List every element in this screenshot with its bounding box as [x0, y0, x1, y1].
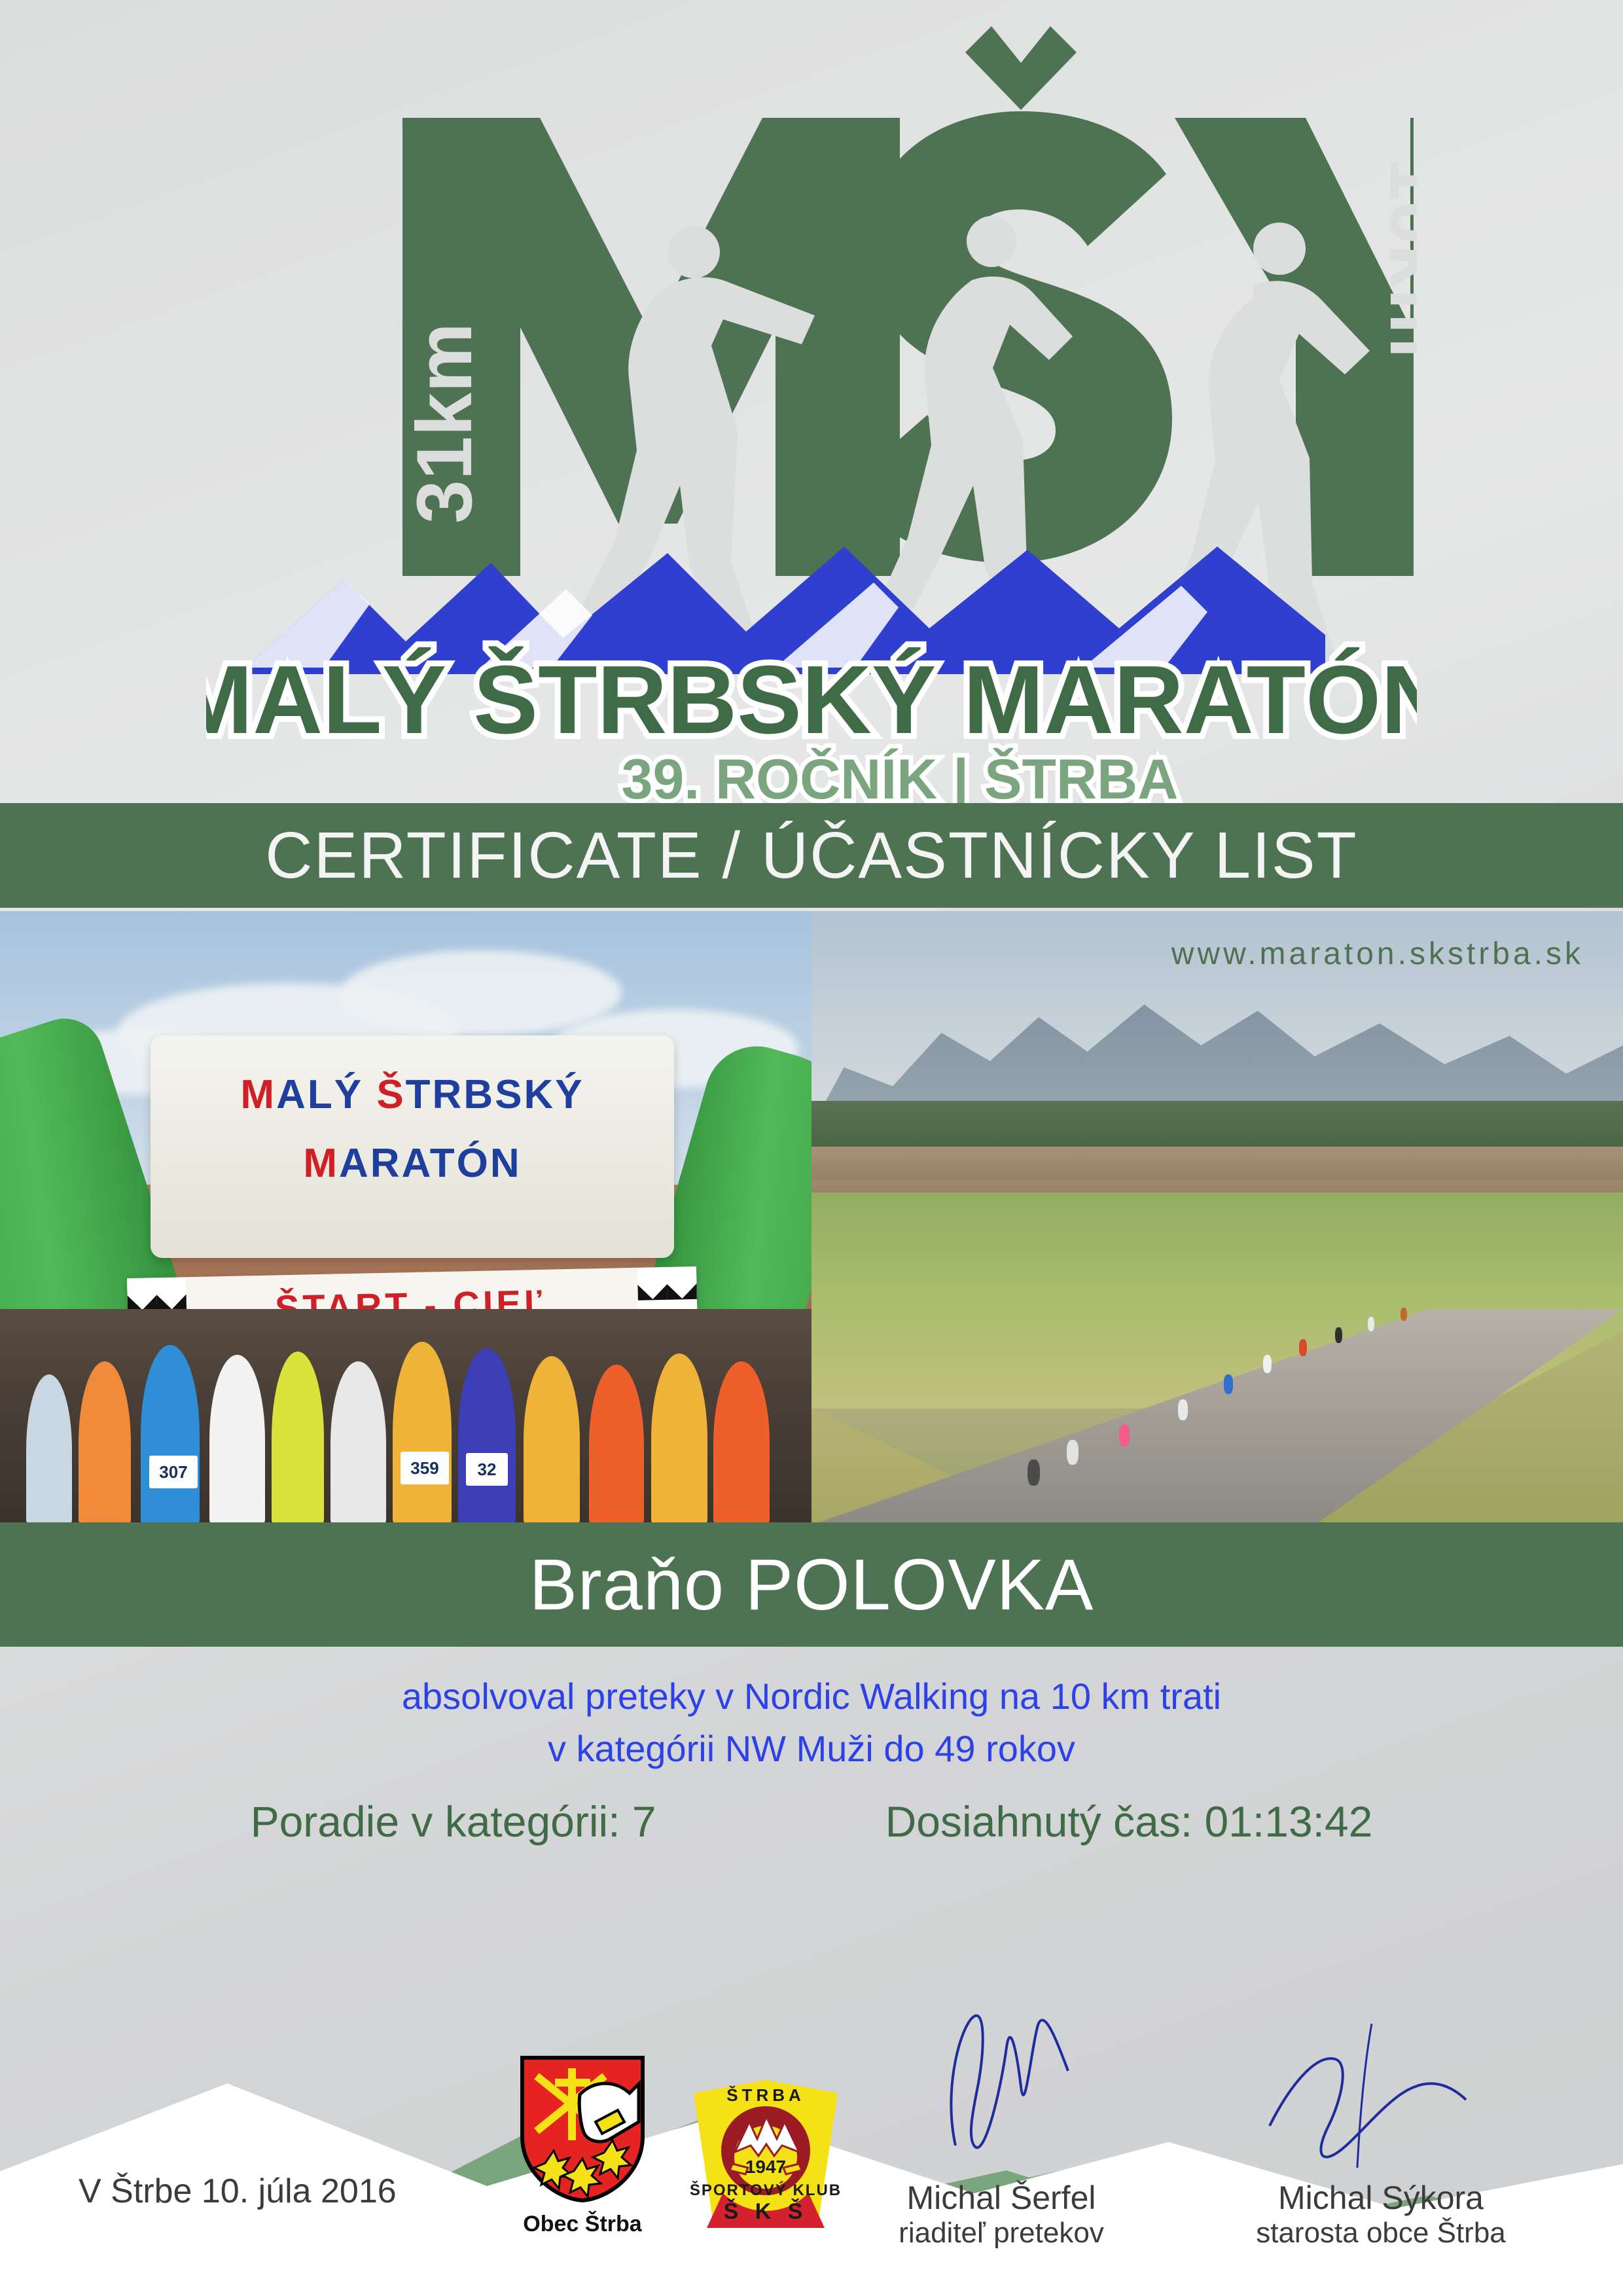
participation-description: absolvoval preteky v Nordic Walking na 1… — [0, 1670, 1623, 1774]
club-logo: ŠTRBA 1947 ŠPORTOVÝ KLUB Š K Š — [690, 2080, 841, 2234]
logo-graphic: 31km 10km MALÝ ŠTRBSKÝ MARATÓN 39. ROČNÍ… — [206, 26, 1417, 805]
place-and-date: V Štrbe 10. júla 2016 — [79, 2172, 397, 2211]
club-logo-ring-text: ŠPORTOVÝ KLUB — [690, 2181, 841, 2199]
certificate-footer: V Štrbe 10. júla 2016 Obec Št — [0, 2015, 1623, 2296]
signature-ink-director — [929, 2008, 1099, 2152]
finish-time-value: 01:13:42 — [1205, 1797, 1373, 1846]
logo-title: MALÝ ŠTRBSKÝ MARATÓN — [206, 645, 1417, 754]
finish-time: Dosiahnutý čas: 01:13:42 — [885, 1797, 1373, 1846]
description-line-1: absolvoval preteky v Nordic Walking na 1… — [0, 1670, 1623, 1723]
website-url: www.maraton.skstrba.sk — [1171, 936, 1584, 972]
participant-name: Braňo POLOVKA — [0, 1522, 1623, 1647]
director-role: riaditeľ pretekov — [831, 2217, 1171, 2250]
description-line-2: v kategórii NW Muži do 49 rokov — [0, 1723, 1623, 1775]
arch-text-line2: MARATÓN — [151, 1140, 674, 1187]
signature-block-mayor: Michal Sýkora starosta obce Štrba — [1198, 2179, 1564, 2250]
runner-bib: 359 — [401, 1452, 449, 1484]
category-rank-value: 7 — [632, 1797, 656, 1846]
club-logo-abbr: Š K Š — [724, 2198, 808, 2224]
coat-of-arms-icon — [517, 2054, 648, 2204]
photo-start-line: MALÝ ŠTRBSKÝ MARATÓN ŠTART - CIEĽ — [0, 911, 811, 1525]
club-logo-top-text: ŠTRBA — [726, 2085, 805, 2105]
certificate-page: 31km 10km MALÝ ŠTRBSKÝ MARATÓN 39. ROČNÍ… — [0, 0, 1623, 2296]
runner-bib: 32 — [466, 1453, 508, 1486]
arch-text-line1: MALÝ ŠTRBSKÝ — [151, 1071, 674, 1118]
category-rank-label: Poradie v kategórii: — [251, 1797, 620, 1846]
certificate-title: CERTIFICATE / ÚČASTNÍCKY LIST — [0, 803, 1623, 908]
photo-course — [811, 911, 1623, 1525]
logo-subtitle: 39. ROČNÍK | ŠTRBA — [622, 748, 1179, 805]
mayor-role: starosta obce Štrba — [1198, 2217, 1564, 2250]
mayor-name: Michal Sýkora — [1198, 2179, 1564, 2217]
finish-time-label: Dosiahnutý čas: — [885, 1797, 1193, 1846]
signature-block-director: Michal Šerfel riaditeľ pretekov — [831, 2179, 1171, 2250]
municipality-logo-label: Obec Štrba — [517, 2212, 648, 2237]
runner-bib: 307 — [149, 1456, 198, 1488]
photo-strip: MALÝ ŠTRBSKÝ MARATÓN ŠTART - CIEĽ — [0, 911, 1623, 1525]
category-rank: Poradie v kategórii: 7 — [251, 1797, 656, 1846]
club-logo-icon: ŠTRBA 1947 ŠPORTOVÝ KLUB Š K Š — [690, 2080, 841, 2231]
signature-ink-mayor — [1250, 2021, 1512, 2172]
event-logo: 31km 10km MALÝ ŠTRBSKÝ MARATÓN 39. ROČNÍ… — [0, 0, 1623, 805]
municipality-logo: Obec Štrba — [517, 2054, 648, 2237]
logo-left-distance: 31km — [401, 323, 488, 524]
club-logo-year: 1947 — [745, 2157, 786, 2177]
results-row: Poradie v kategórii: 7 Dosiahnutý čas: 0… — [0, 1797, 1623, 1846]
logo-right-distance: 10km — [1374, 157, 1417, 358]
director-name: Michal Šerfel — [831, 2179, 1171, 2217]
